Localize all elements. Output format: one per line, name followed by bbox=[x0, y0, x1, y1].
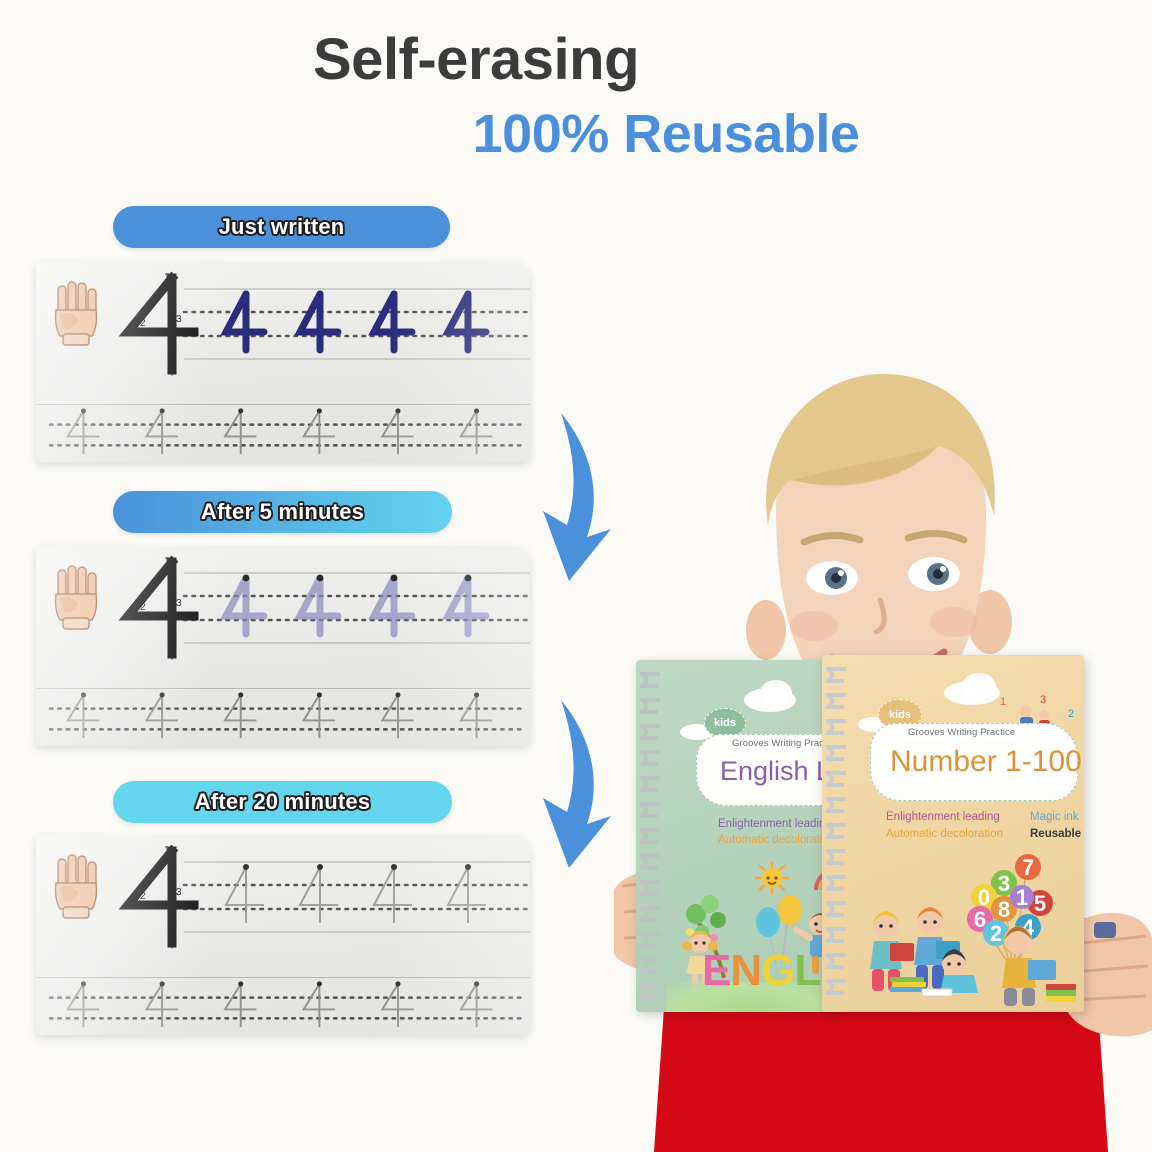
number-cover-inner: kids 1 3 2 4 5 Grooves Writing Practice … bbox=[852, 655, 1084, 1012]
flow-arrow-down-icon bbox=[525, 405, 635, 585]
stage-badge-label: After 5 minutes bbox=[201, 499, 364, 525]
headline-line-1: Self-erasing bbox=[0, 26, 1152, 93]
spiral-binding-icon bbox=[636, 660, 666, 1012]
subtitle-magic-ink: Magic ink bbox=[1030, 811, 1079, 823]
cloud-icon bbox=[962, 673, 996, 699]
english-cover-inner: kids Grooves Writing Practice English Le… bbox=[666, 660, 836, 1012]
written-digits-row-stage-3 bbox=[36, 835, 530, 977]
big-letters-engli: ENGLI bbox=[702, 946, 832, 996]
flow-arrow-down-icon bbox=[525, 692, 635, 872]
subtitle-enlightenment: Enlightenment leading bbox=[886, 811, 1000, 823]
book-title: English Le bbox=[720, 756, 836, 787]
book-title: Number 1-100 bbox=[890, 745, 1082, 779]
svg-text:1: 1 bbox=[1000, 696, 1006, 708]
practice-card-stage-1: 1 2 3 bbox=[36, 262, 530, 462]
subtitle-decoloration: Automatic decoloration bbox=[718, 834, 835, 846]
cloud-icon bbox=[760, 680, 792, 706]
written-digits-row-stage-1 bbox=[36, 262, 530, 404]
headline-line-2: 100% Reusable bbox=[0, 103, 1152, 165]
kids-reading-illustration bbox=[860, 901, 1000, 1001]
practice-card-stage-2: 1 2 3 bbox=[36, 546, 530, 746]
grooved-digits-row-stage-3 bbox=[36, 977, 530, 1035]
book-cover-number[interactable]: kids 1 3 2 4 5 Grooves Writing Practice … bbox=[822, 655, 1084, 1012]
stage-badge-after-5-minutes: After 5 minutes bbox=[113, 491, 452, 533]
written-digits-row-stage-2 bbox=[36, 546, 530, 688]
svg-text:7: 7 bbox=[1022, 855, 1034, 880]
stage-badge-label: After 20 minutes bbox=[195, 789, 371, 815]
stage-badge-just-written: Just written bbox=[113, 206, 450, 248]
grooved-digits-row-stage-2 bbox=[36, 688, 530, 746]
book-cover-english[interactable]: kids Grooves Writing Practice English Le… bbox=[636, 660, 836, 1012]
series-label: Grooves Writing Practice bbox=[726, 736, 836, 750]
stage-badge-after-20-minutes: After 20 minutes bbox=[113, 781, 452, 823]
stage-badge-label: Just written bbox=[219, 214, 345, 240]
svg-text:1: 1 bbox=[1016, 885, 1028, 910]
svg-text:2: 2 bbox=[1068, 708, 1074, 720]
grooved-digits-row-stage-1 bbox=[36, 404, 530, 462]
svg-text:5: 5 bbox=[1034, 891, 1046, 916]
kid-with-books-illustration bbox=[984, 916, 1080, 1008]
subtitle-decoloration: Automatic decoloration bbox=[886, 828, 1003, 840]
subtitle-reusable: Reusable bbox=[1030, 828, 1081, 840]
svg-text:3: 3 bbox=[998, 871, 1010, 896]
headline-block: Self-erasing 100% Reusable bbox=[0, 26, 1152, 165]
spiral-binding-icon bbox=[822, 655, 852, 1012]
svg-text:3: 3 bbox=[1040, 694, 1046, 706]
series-label: Grooves Writing Practice bbox=[902, 725, 1021, 739]
subtitle-enlightenment: Enlightenment leading bbox=[718, 818, 832, 830]
practice-card-stage-3: 1 2 3 bbox=[36, 835, 530, 1035]
